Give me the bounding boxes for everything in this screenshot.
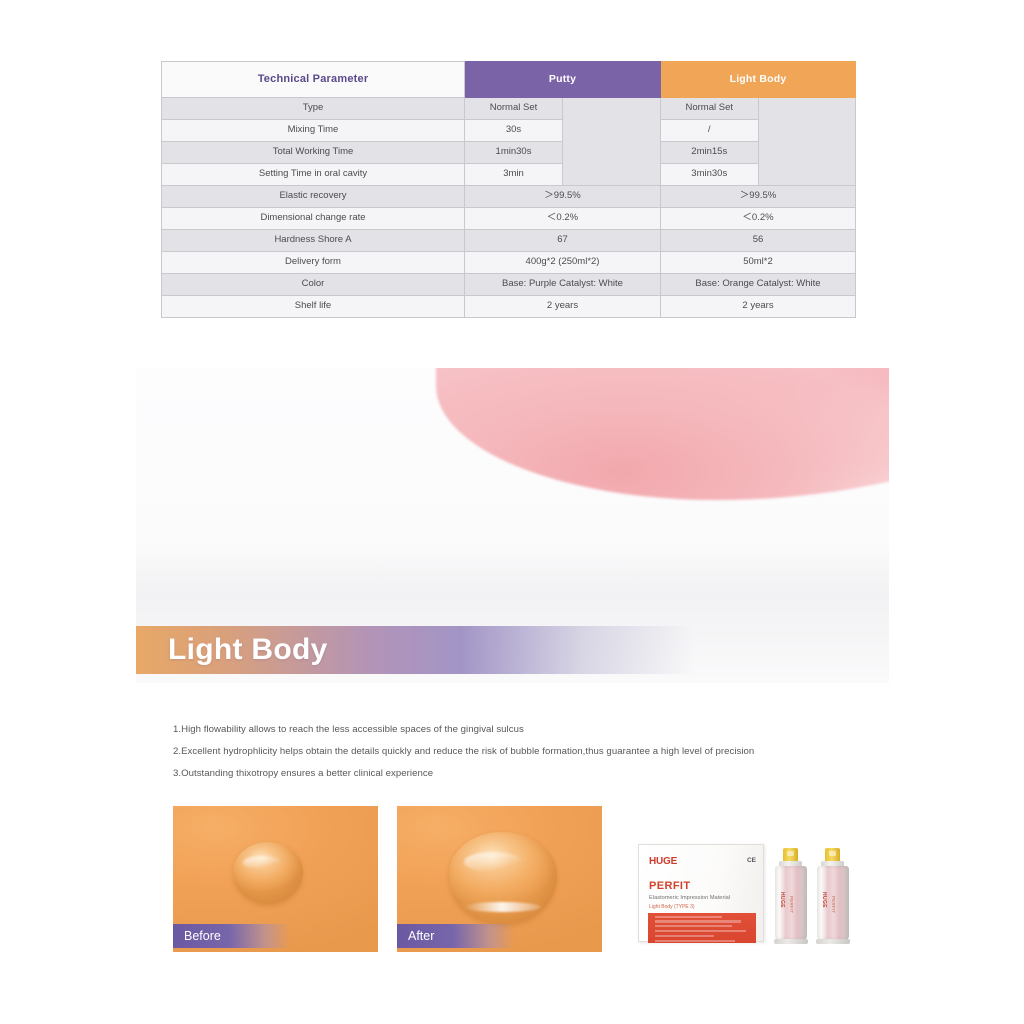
ce-symbol: CE <box>747 857 756 864</box>
text-line <box>655 940 735 942</box>
photo-before: Before <box>173 806 378 952</box>
box-product-type: Light Body (TYPE 3) <box>649 904 695 910</box>
hero-caption-label: Light Body <box>168 633 328 667</box>
feature-list: 1.High flowability allows to reach the l… <box>173 724 873 790</box>
box-product-description: Elastomeric Impression Material <box>649 895 730 901</box>
cell-light: 2 years <box>661 296 856 318</box>
row-label: Setting Time in oral cavity <box>162 164 465 186</box>
cell-light: 2min15s <box>661 142 759 164</box>
cell-putty: 1min30s <box>465 142 563 164</box>
product-spec-page: Technical Parameter Putty Light Body Typ… <box>0 0 1024 1024</box>
feature-item: 2.Excellent hydrophlicity helps obtain t… <box>173 746 873 757</box>
box-product-name: PERFIT <box>649 880 691 892</box>
cell-putty: 67 <box>465 230 661 252</box>
cartridge-base <box>816 939 850 944</box>
cartridge: HUGE PERFIT <box>816 848 850 944</box>
table-row: Elastic recovery ＞99.5% ＞99.5% <box>162 186 856 208</box>
row-label: Delivery form <box>162 252 465 274</box>
table-row: Hardness Shore A 67 56 <box>162 230 856 252</box>
header-technical-parameter: Technical Parameter <box>162 62 465 98</box>
cell-putty: ＜0.2% <box>465 208 661 230</box>
text-line <box>655 920 741 922</box>
product-box: HUGE CE PERFIT Elastomeric Impression Ma… <box>638 844 764 942</box>
hero-caption-bar: Light Body <box>136 626 696 674</box>
row-label: Type <box>162 98 465 120</box>
header-putty: Putty <box>465 62 661 98</box>
cell-light-blank <box>758 98 856 186</box>
row-label: Dimensional change rate <box>162 208 465 230</box>
table-header-row: Technical Parameter Putty Light Body <box>162 62 856 98</box>
cell-putty: Normal Set <box>465 98 563 120</box>
table-row: Total Working Time 1min30s 2min15s <box>162 142 856 164</box>
cell-light: ＞99.5% <box>661 186 856 208</box>
text-line <box>655 925 732 927</box>
table-row: Mixing Time 30s / <box>162 120 856 142</box>
cell-light: 50ml*2 <box>661 252 856 274</box>
cell-light: 56 <box>661 230 856 252</box>
row-label: Color <box>162 274 465 296</box>
table-row: Setting Time in oral cavity 3min 3min30s <box>162 164 856 186</box>
row-label: Shelf life <box>162 296 465 318</box>
cell-putty: Base: Purple Catalyst: White <box>465 274 661 296</box>
ce-mark: CE <box>747 857 756 865</box>
hero-clinical-photo: Light Body <box>136 368 889 683</box>
row-label: Elastic recovery <box>162 186 465 208</box>
feature-item: 1.High flowability allows to reach the l… <box>173 724 873 735</box>
table-row: Type Normal Set Normal Set <box>162 98 856 120</box>
table-row: Color Base: Purple Catalyst: White Base:… <box>162 274 856 296</box>
cell-putty: 400g*2 (250ml*2) <box>465 252 661 274</box>
droplet-highlight <box>463 902 541 912</box>
packaging-photo: HUGE CE PERFIT Elastomeric Impression Ma… <box>638 840 858 950</box>
text-line <box>655 930 746 932</box>
technical-parameter-table: Technical Parameter Putty Light Body Typ… <box>161 61 856 318</box>
photo-after: After <box>397 806 602 952</box>
cartridge: HUGE PERFIT <box>774 848 808 944</box>
box-brand-logo: HUGE <box>649 856 677 867</box>
cell-light: / <box>661 120 759 142</box>
cartridge-product-label: PERFIT <box>789 896 794 913</box>
cell-putty-blank <box>563 98 661 186</box>
cell-light: ＜0.2% <box>661 208 856 230</box>
cartridge-brand-label: HUGE <box>779 892 785 908</box>
photo-caption-before: Before <box>173 924 291 948</box>
cartridge-body: HUGE PERFIT <box>817 866 849 940</box>
cell-putty: 30s <box>465 120 563 142</box>
cartridge-brand-label: HUGE <box>821 892 827 908</box>
cartridge-base <box>774 939 808 944</box>
text-line <box>655 916 722 918</box>
cell-light: Base: Orange Catalyst: White <box>661 274 856 296</box>
photo-caption-after: After <box>397 924 515 948</box>
box-multilingual-block <box>648 913 756 943</box>
text-line <box>655 935 714 937</box>
row-label: Total Working Time <box>162 142 465 164</box>
header-light-body: Light Body <box>661 62 856 98</box>
cell-light: Normal Set <box>661 98 759 120</box>
cell-light: 3min30s <box>661 164 759 186</box>
cartridge-body: HUGE PERFIT <box>775 866 807 940</box>
cartridge-product-label: PERFIT <box>831 896 836 913</box>
table-row: Shelf life 2 years 2 years <box>162 296 856 318</box>
photo-caption-label: After <box>408 929 434 943</box>
feature-item: 3.Outstanding thixotropy ensures a bette… <box>173 768 873 779</box>
row-label: Hardness Shore A <box>162 230 465 252</box>
table-row: Delivery form 400g*2 (250ml*2) 50ml*2 <box>162 252 856 274</box>
droplet-before <box>233 842 303 904</box>
table-row: Dimensional change rate ＜0.2% ＜0.2% <box>162 208 856 230</box>
cell-putty: ＞99.5% <box>465 186 661 208</box>
cell-putty: 2 years <box>465 296 661 318</box>
photo-caption-label: Before <box>184 929 221 943</box>
row-label: Mixing Time <box>162 120 465 142</box>
cell-putty: 3min <box>465 164 563 186</box>
table-body: Type Normal Set Normal Set Mixing Time 3… <box>162 98 856 318</box>
